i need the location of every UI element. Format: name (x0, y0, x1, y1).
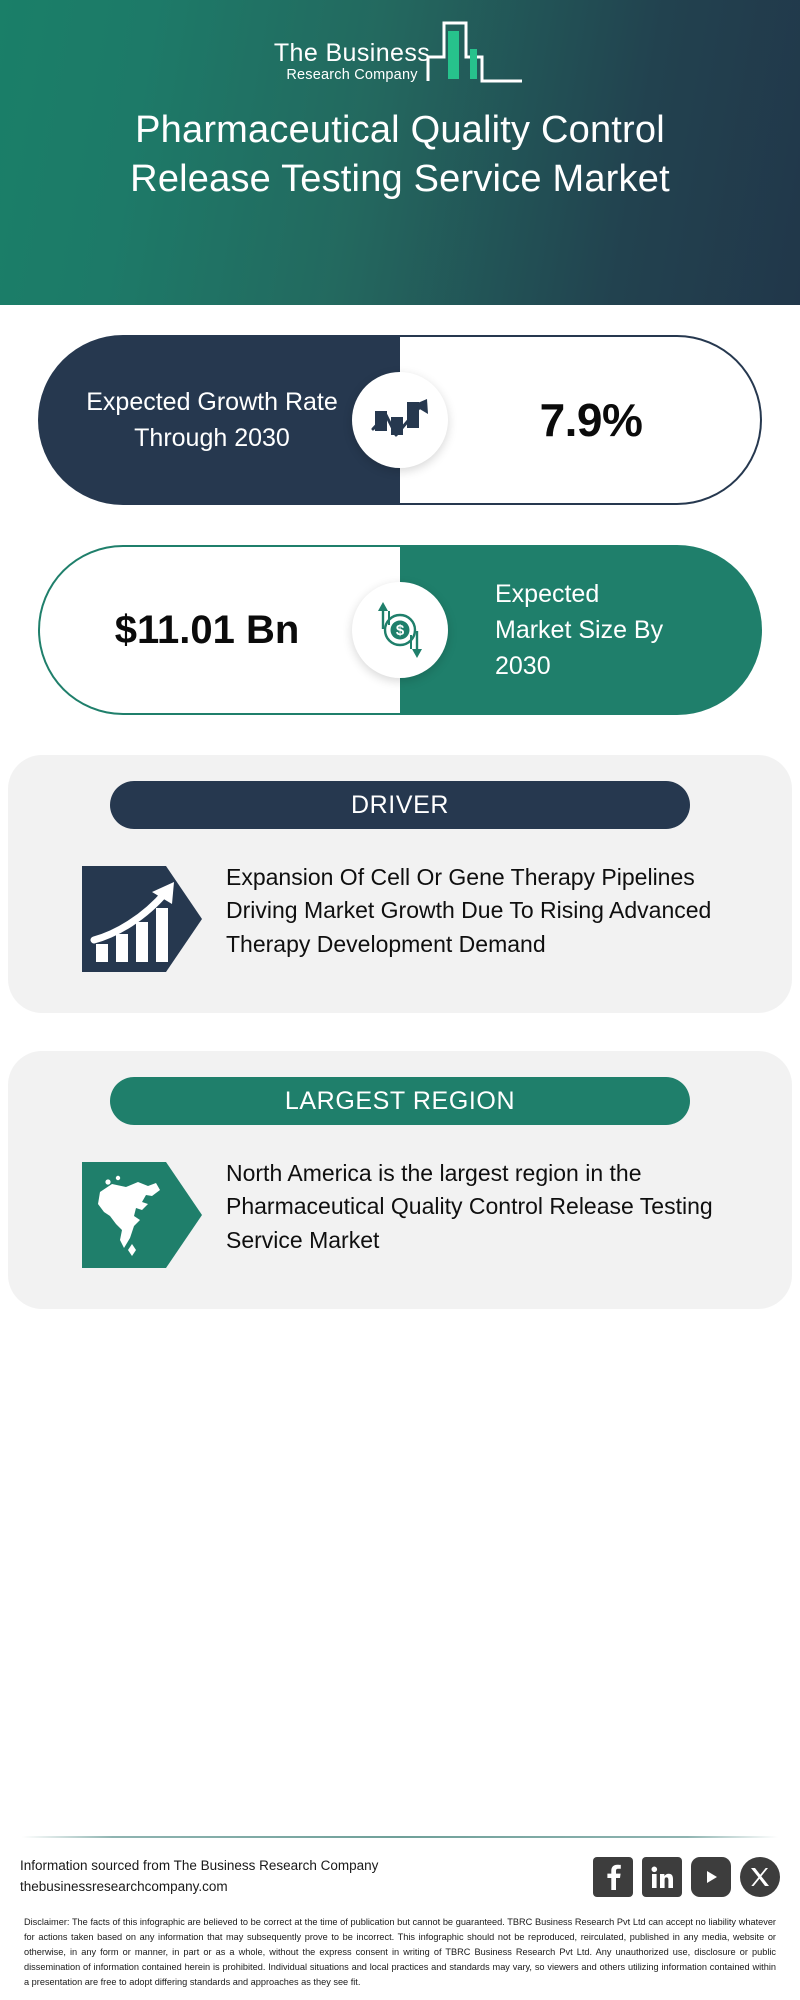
dollar-cycle-icon: $ (352, 582, 448, 678)
stat-label: Expected Market Size By 2030 (481, 576, 681, 685)
youtube-icon[interactable] (691, 1857, 731, 1897)
stat-value-panel: $11.01 Bn (38, 545, 400, 715)
stat-card-market-size: $11.01 Bn Expected Market Size By 2030 $ (38, 545, 762, 715)
disclaimer-text: Disclaimer: The facts of this infographi… (18, 1915, 782, 1990)
growth-bar-arrow-icon (352, 372, 448, 468)
infographic-footer: Information sourced from The Business Re… (0, 1836, 800, 2000)
source-line-1: Information sourced from The Business Re… (20, 1856, 378, 1877)
linkedin-icon[interactable] (642, 1857, 682, 1897)
section-driver: DRIVER Expansion Of Cell Or Gene Therapy… (8, 755, 792, 1013)
stat-label: Expected Growth Rate Through 2030 (38, 384, 400, 457)
x-twitter-icon[interactable] (740, 1857, 780, 1897)
section-body: Expansion Of Cell Or Gene Therapy Pipeli… (8, 829, 792, 979)
stat-label-panel: Expected Growth Rate Through 2030 (38, 335, 400, 505)
page-title: Pharmaceutical Quality Control Release T… (0, 106, 800, 204)
stat-value: 7.9% (518, 393, 643, 447)
section-text: North America is the largest region in t… (226, 1155, 740, 1257)
logo-subtitle: Research Company (286, 67, 417, 84)
stat-label-panel: Expected Market Size By 2030 (400, 545, 762, 715)
section-pill-label: DRIVER (351, 791, 449, 820)
brand-logo: The Business Research Company (0, 0, 800, 92)
social-links (593, 1857, 780, 1897)
facebook-icon[interactable] (593, 1857, 633, 1897)
section-largest-region: LARGEST REGION North America is the larg… (8, 1051, 792, 1309)
north-america-map-icon (82, 1155, 202, 1275)
logo-title: The Business (274, 40, 430, 66)
section-pill-driver: DRIVER (110, 781, 690, 829)
stat-card-growth-rate: Expected Growth Rate Through 2030 7.9% (38, 335, 762, 505)
bar-chart-logo-mark (426, 17, 526, 90)
section-pill-largest-region: LARGEST REGION (110, 1077, 690, 1125)
source-info: Information sourced from The Business Re… (20, 1856, 378, 1898)
section-pill-label: LARGEST REGION (285, 1087, 515, 1116)
stat-value: $11.01 Bn (115, 605, 326, 655)
source-website[interactable]: thebusinessresearchcompany.com (20, 1877, 378, 1898)
footer-divider (22, 1836, 778, 1838)
section-body: North America is the largest region in t… (8, 1125, 792, 1275)
infographic-header: The Business Research Company Pharmaceut… (0, 0, 800, 305)
svg-text:$: $ (396, 622, 405, 639)
stat-value-panel: 7.9% (400, 335, 762, 505)
rising-bar-chart-arrow-icon (82, 859, 202, 979)
section-text: Expansion Of Cell Or Gene Therapy Pipeli… (226, 859, 740, 961)
